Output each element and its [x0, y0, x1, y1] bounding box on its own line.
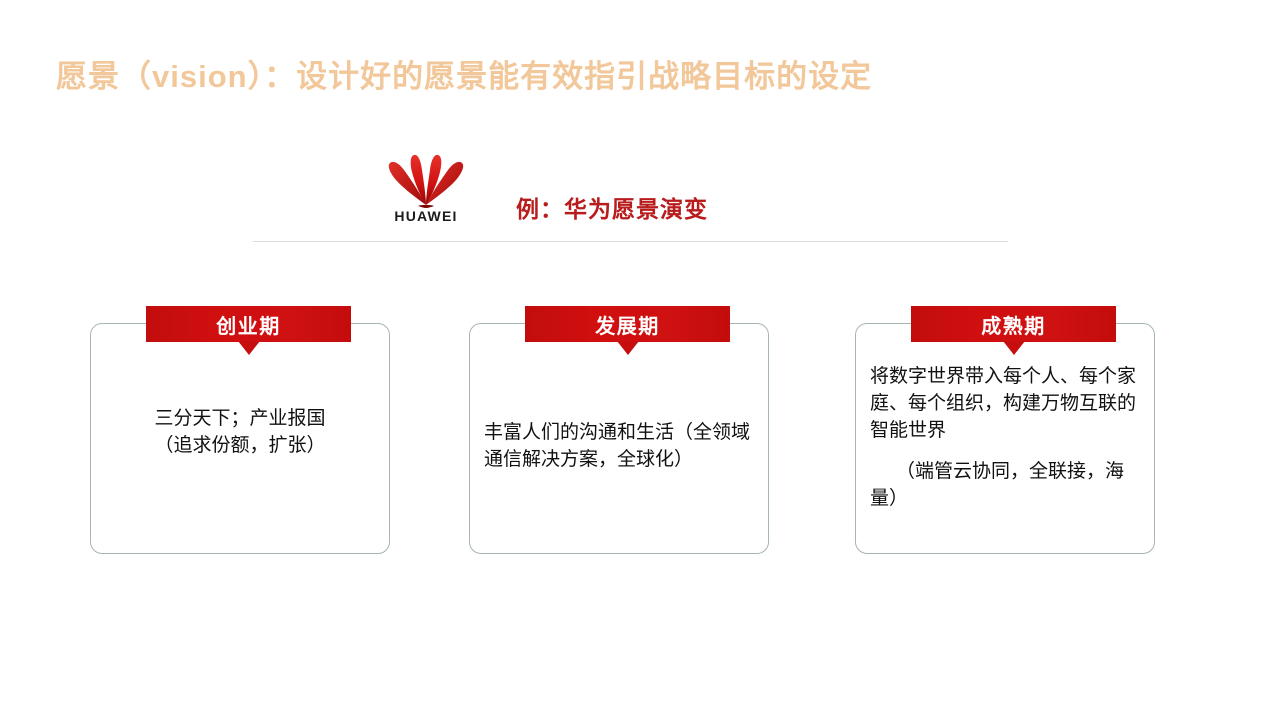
- stage-banner-label: 成熟期: [981, 310, 1046, 339]
- slide-canvas: 愿景（vision）：设计好的愿景能有效指引战略目标的设定: [0, 0, 1280, 720]
- stage-banner-startup: 创业期: [146, 306, 351, 342]
- stage-card-body: 丰富人们的沟通和生活（全领域通信解决方案，全球化）: [470, 420, 768, 474]
- stage-card-body: 将数字世界带入每个人、每个家庭、每个组织，构建万物互联的智能世界 （端管云协同，…: [856, 364, 1154, 513]
- stage-body-text-primary: 将数字世界带入每个人、每个家庭、每个组织，构建万物互联的智能世界: [870, 364, 1146, 445]
- banner-notch-icon: [1003, 341, 1025, 355]
- stage-card-body: 三分天下；产业报国 （追求份额，扩张）: [91, 406, 389, 460]
- stage-body-line-2: （追求份额，扩张）: [101, 433, 379, 460]
- banner-notch-icon: [238, 341, 260, 355]
- stage-cards: 创业期 三分天下；产业报国 （追求份额，扩张） 发展期 丰富人们的沟通和生活（全…: [0, 0, 1280, 720]
- stage-card-startup: 创业期 三分天下；产业报国 （追求份额，扩张）: [90, 323, 390, 554]
- stage-body-line-1: 三分天下；产业报国: [101, 406, 379, 433]
- stage-body-text: 丰富人们的沟通和生活（全领域通信解决方案，全球化）: [484, 420, 756, 474]
- stage-card-growth: 发展期 丰富人们的沟通和生活（全领域通信解决方案，全球化）: [469, 323, 769, 554]
- stage-card-maturity: 成熟期 将数字世界带入每个人、每个家庭、每个组织，构建万物互联的智能世界 （端管…: [855, 323, 1155, 554]
- stage-banner-growth: 发展期: [525, 306, 730, 342]
- stage-banner-maturity: 成熟期: [911, 306, 1116, 342]
- stage-banner-label: 发展期: [595, 310, 660, 339]
- banner-notch-icon: [617, 341, 639, 355]
- stage-body-text-secondary: （端管云协同，全联接，海量）: [870, 459, 1146, 513]
- stage-banner-label: 创业期: [216, 310, 281, 339]
